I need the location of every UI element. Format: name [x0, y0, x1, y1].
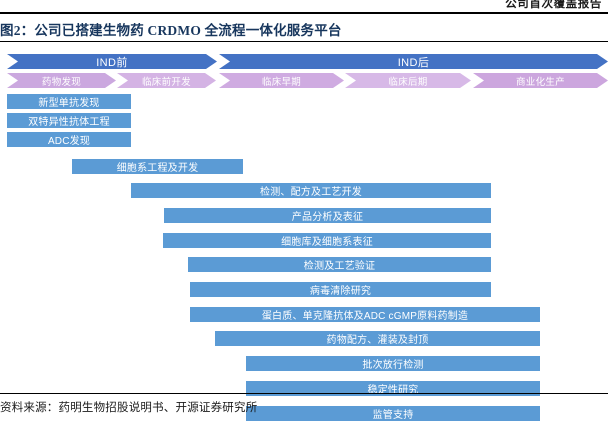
service-bar-adc-discovery: ADC发现 [7, 132, 131, 147]
source-note: 资料来源：药明生物招股说明书、开源证券研究所 [0, 399, 257, 415]
phase-band-ind-pre-label: IND前 [96, 54, 128, 70]
running-header-text: 公司首次覆盖报告 [505, 0, 602, 11]
stage-band-drug-discovery: 药物发现 [7, 73, 116, 88]
service-bar-bispecific-antibody-engineering: 双特异性抗体工程 [7, 113, 131, 128]
stage-band-preclinical: 临床前开发 [117, 73, 216, 88]
crdmo-platform-chart: IND前 IND后 药物发现 临床前开发 临床早期 临床后期 商业化生产 新型单… [0, 43, 608, 391]
service-bar-viral-clearance-study: 病毒清除研究 [190, 282, 491, 297]
stage-band-late-clinical: 临床后期 [345, 73, 471, 88]
stage-band-commercial-label: 商业化生产 [516, 74, 565, 88]
stage-band-early-clinical: 临床早期 [219, 73, 344, 88]
stage-band-late-clinical-label: 临床后期 [388, 74, 427, 88]
service-bar-product-analysis-characterization: 产品分析及表征 [164, 208, 491, 223]
phase-band-ind-post-label: IND后 [398, 54, 430, 70]
figure-title: 图2：公司已搭建生物药 CRDMO 全流程一体化服务平台 [0, 19, 604, 39]
service-bar-cell-bank-cell-line-characterization: 细胞库及细胞系表征 [163, 233, 491, 248]
service-bar-drug-formulation-fill-finish: 药物配方、灌装及封顶 [215, 331, 540, 346]
phase-band-ind-pre: IND前 [7, 54, 217, 69]
footer-divider-rule [0, 393, 608, 394]
service-bar-cell-line-engineering-development: 细胞系工程及开发 [72, 159, 243, 174]
phase-band-ind-post: IND后 [219, 54, 608, 69]
stage-band-commercial: 商业化生产 [473, 73, 608, 88]
service-bar-regulatory-support: 监管支持 [246, 406, 540, 421]
service-bar-novel-mab-discovery: 新型单抗发现 [7, 94, 131, 109]
running-header: 公司首次覆盖报告 [0, 0, 608, 12]
stage-band-preclinical-label: 临床前开发 [142, 74, 191, 88]
service-bar-batch-release-testing: 批次放行检测 [246, 356, 540, 371]
service-bar-assay-process-validation: 检测及工艺验证 [188, 257, 491, 272]
header-divider-rule [0, 12, 608, 14]
stage-band-drug-discovery-label: 药物发现 [42, 74, 81, 88]
service-bar-assay-formulation-process-development: 检测、配方及工艺开发 [131, 183, 491, 198]
service-bar-protein-mab-adc-cgmp-drug-substance-manufacturing: 蛋白质、单克隆抗体及ADC cGMP原料药制造 [190, 307, 540, 322]
stage-band-early-clinical-label: 临床早期 [262, 74, 301, 88]
